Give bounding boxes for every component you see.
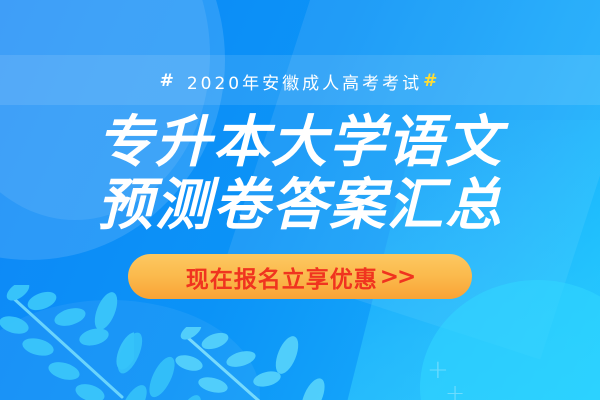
- subtitle-line: # 2020年安徽成人高考考试 #: [160, 69, 441, 93]
- hash-trailing-symbol: #: [423, 71, 440, 91]
- headline-line-1: 专升本大学语文: [97, 112, 503, 175]
- poster-content: # 2020年安徽成人高考考试 # 专升本大学语文 预测卷答案汇总 现在报名立享…: [0, 0, 600, 400]
- enroll-now-button[interactable]: 现在报名立享优惠 >>: [128, 254, 472, 299]
- headline-line-2: 预测卷答案汇总: [97, 175, 503, 238]
- cta-container: 现在报名立享优惠 >>: [128, 254, 472, 299]
- hash-leading-symbol: #: [160, 71, 177, 91]
- cta-arrows: >>: [380, 264, 415, 290]
- page-title: 专升本大学语文 预测卷答案汇总: [97, 112, 503, 237]
- promo-poster: + +: [0, 0, 600, 400]
- cta-label: 现在报名立享优惠: [186, 260, 378, 294]
- subtitle-text: 2020年安徽成人高考考试: [187, 69, 422, 94]
